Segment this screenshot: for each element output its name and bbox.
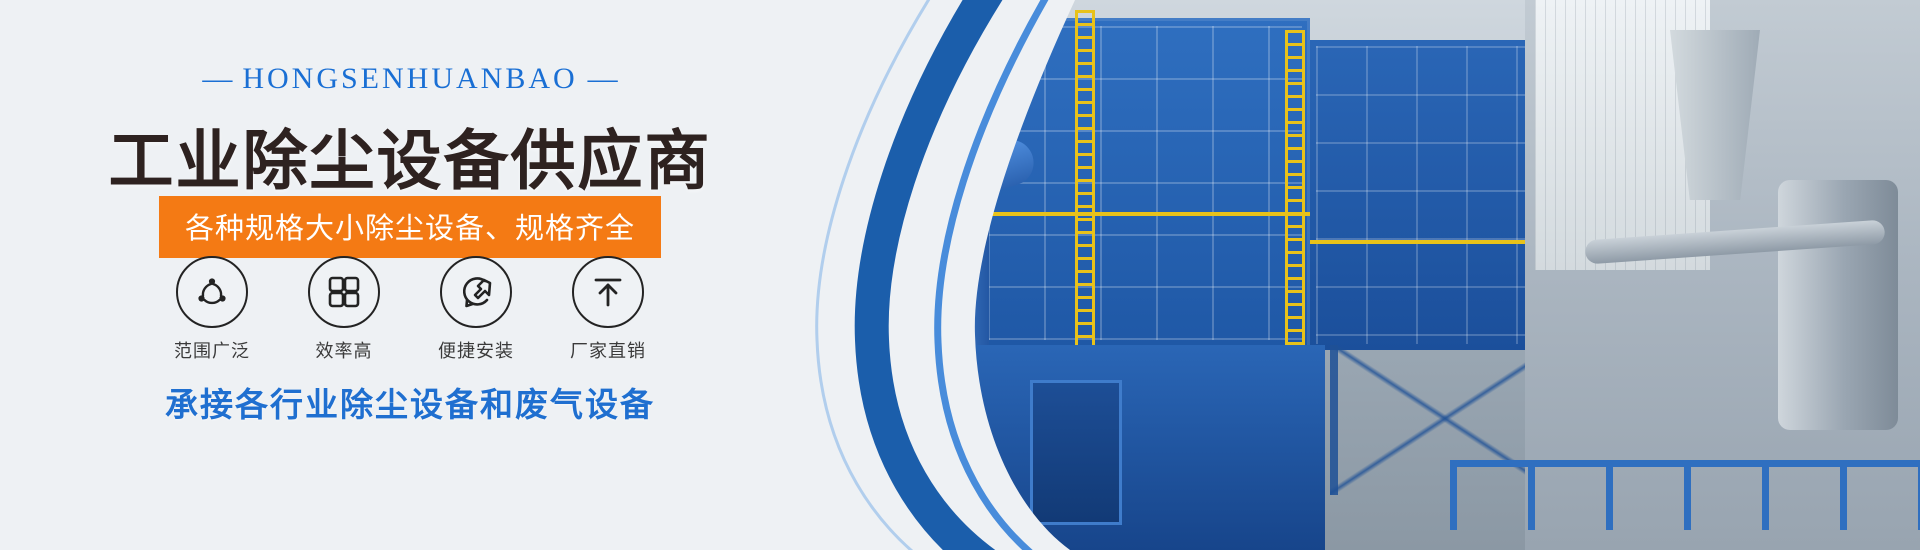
eyebrow-text: HONGSENHUANBAO <box>242 62 577 95</box>
banner-content: —HONGSENHUANBAO— 工业除尘设备供应商 各种规格大小除尘设备、规格… <box>0 0 820 550</box>
dust-collector-plant-photo <box>785 0 1920 550</box>
eyebrow-dash-left: — <box>192 62 242 95</box>
highlight-bar-text: 各种规格大小除尘设备、规格齐全 <box>185 213 635 245</box>
feature-label: 效率高 <box>301 337 387 363</box>
feature-label: 范围广泛 <box>169 337 255 363</box>
banner-tagline: 承接各行业除尘设备和废气设备 <box>0 378 820 426</box>
promo-banner: —HONGSENHUANBAO— 工业除尘设备供应商 各种规格大小除尘设备、规格… <box>0 0 1920 550</box>
share-network-icon <box>176 256 248 328</box>
brand-eyebrow: —HONGSENHUANBAO— <box>0 62 820 96</box>
eyebrow-dash-right: — <box>578 62 628 95</box>
wrench-refresh-icon <box>440 256 512 328</box>
feature-item-coverage[interactable]: 范围广泛 <box>169 256 255 363</box>
highlight-bar: 各种规格大小除尘设备、规格齐全 <box>159 196 661 258</box>
feature-label: 厂家直销 <box>565 337 651 363</box>
feature-list: 范围广泛 效率高 <box>0 256 820 363</box>
feature-item-efficiency[interactable]: 效率高 <box>301 256 387 363</box>
grid-four-squares-icon <box>308 256 380 328</box>
feature-item-direct-sales[interactable]: 厂家直销 <box>565 256 651 363</box>
feature-label: 便捷安装 <box>433 337 519 363</box>
up-arrow-icon <box>572 256 644 328</box>
feature-item-installation[interactable]: 便捷安装 <box>433 256 519 363</box>
banner-headline: 工业除尘设备供应商 <box>0 108 820 202</box>
